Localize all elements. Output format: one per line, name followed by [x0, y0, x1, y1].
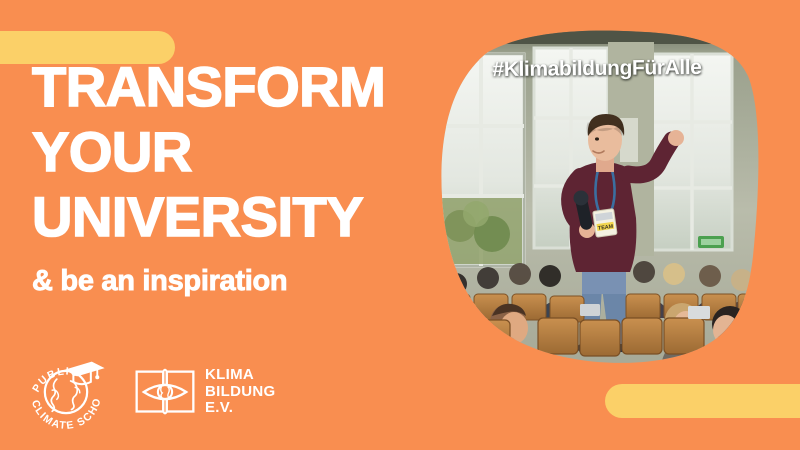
photo-blob: TEAM: [430, 18, 770, 368]
promo-poster: TRANSFORM YOUR UNIVERSITY & be an inspir…: [0, 0, 800, 450]
klima-bildung-ev-label: KLIMA BILDUNG E.V.: [205, 367, 275, 417]
headline-line-1: TRANSFORM: [32, 60, 422, 115]
logo-row: PUBLIC CLIMATE SCHOOL KLIMA BILDUNG E.V.: [20, 346, 275, 438]
klima-bildung-ev-logo: KLIMA BILDUNG E.V.: [134, 366, 275, 418]
open-book-with-eye-and-globe-icon: [134, 366, 196, 418]
public-climate-school-logo: PUBLIC CLIMATE SCHOOL: [20, 346, 112, 438]
headline-line-3: UNIVERSITY: [32, 190, 422, 245]
yellow-bar-bottom-right: [605, 384, 800, 418]
subheadline: & be an inspiration: [32, 265, 422, 298]
headline-block: TRANSFORM YOUR UNIVERSITY & be an inspir…: [32, 60, 422, 298]
lecture-hall-speaker-photo: TEAM: [430, 18, 770, 368]
headline-line-2: YOUR: [32, 125, 422, 180]
